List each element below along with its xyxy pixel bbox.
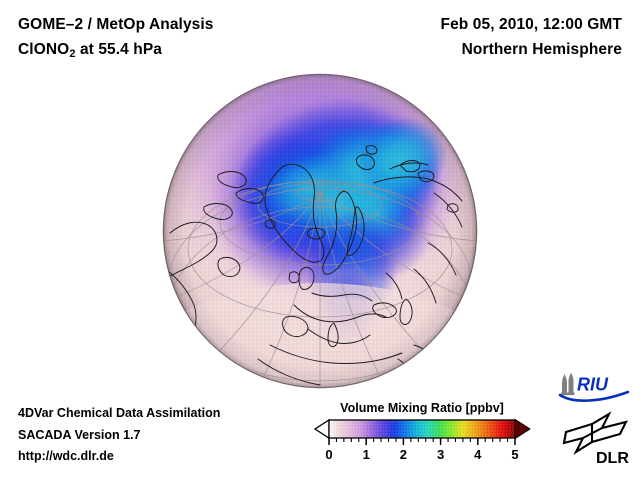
colorbar-tick-label: 4: [474, 447, 482, 462]
colorbar-tick-labels: 012345: [325, 447, 518, 462]
title-instrument: GOME–2 / MetOp Analysis: [18, 12, 214, 37]
colorbar-tick-label: 5: [511, 447, 518, 462]
colorbar-high-cap: [515, 419, 530, 438]
valid-timestamp: Feb 05, 2010, 12:00 GMT: [441, 12, 623, 37]
dlr-eagle-icon: [564, 414, 626, 452]
colorbar-tick-label: 3: [437, 447, 444, 462]
globe-map: [162, 73, 478, 389]
header-right: Feb 05, 2010, 12:00 GMT Northern Hemisph…: [441, 12, 623, 62]
region-label: Northern Hemisphere: [441, 37, 623, 62]
figure-canvas: GOME–2 / MetOp Analysis ClONO2 at 55.4 h…: [0, 0, 640, 480]
colorbar-low-cap: [315, 420, 329, 438]
species-name: ClONO: [18, 41, 69, 58]
riu-logo: RIU: [558, 372, 630, 404]
footer-url[interactable]: http://wdc.dlr.de: [18, 446, 220, 468]
colorbar-title: Volume Mixing Ratio [ppbv]: [311, 401, 533, 415]
riu-tower-icon: [561, 373, 574, 396]
colorbar-tick-label: 1: [363, 447, 370, 462]
colorbar-tick-label: 2: [400, 447, 407, 462]
colorbar-texture: [329, 420, 515, 438]
riu-wordmark: RIU: [577, 375, 609, 395]
dlr-logo: DLR: [562, 410, 632, 468]
species-level: at 55.4 hPa: [76, 41, 163, 58]
colorbar-tick-label: 0: [325, 447, 332, 462]
colorbar-svg: 012345: [311, 418, 533, 465]
colorbar: Volume Mixing Ratio [ppbv]: [311, 401, 533, 465]
footer-version: SACADA Version 1.7: [18, 425, 220, 447]
dlr-logo-svg: DLR: [562, 410, 632, 468]
footer-credits: 4DVar Chemical Data Assimilation SACADA …: [18, 403, 220, 468]
title-species-level: ClONO2 at 55.4 hPa: [18, 37, 214, 64]
dlr-wordmark: DLR: [596, 450, 629, 467]
globe-svg: [162, 73, 478, 389]
footer-method: 4DVar Chemical Data Assimilation: [18, 403, 220, 425]
header-left: GOME–2 / MetOp Analysis ClONO2 at 55.4 h…: [18, 12, 214, 64]
riu-logo-svg: RIU: [558, 372, 630, 404]
species-subscript: 2: [69, 48, 75, 60]
colorbar-ticks: [329, 438, 515, 445]
